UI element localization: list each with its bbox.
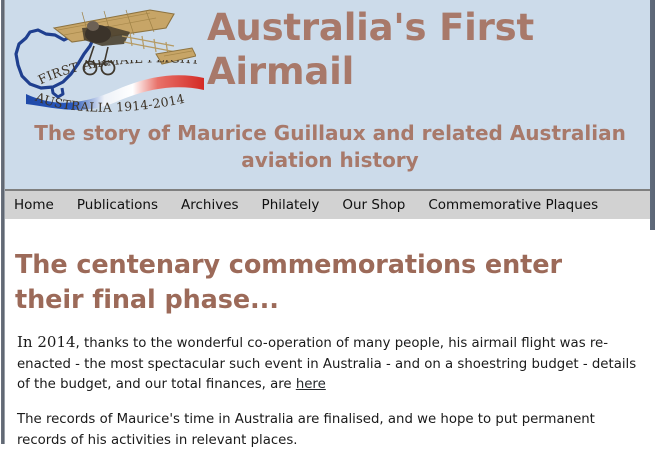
site-title-line-2: Airmail: [207, 50, 652, 94]
paragraph-lead-in: In 2014: [17, 333, 76, 351]
intro-paragraph: In 2014, thanks to the wonderful co-oper…: [17, 332, 647, 396]
records-paragraph: The records of Maurice's time in Austral…: [17, 410, 647, 451]
nav-item-commemorative-plaques[interactable]: Commemorative Plaques: [428, 197, 598, 213]
nav-item-philately[interactable]: Philately: [262, 197, 320, 213]
tricolour-ribbon-icon: [24, 64, 206, 110]
page-root: FIRST AIRMAIL FLIGHT AUSTRALIA 1914-2014…: [0, 0, 658, 444]
nav-item-our-shop[interactable]: Our Shop: [342, 197, 405, 213]
budget-details-link[interactable]: here: [296, 377, 326, 392]
site-title-line-1: Australia's First: [207, 6, 652, 50]
nav-items-container: Home Publications Archives Philately Our…: [4, 191, 654, 219]
nav-item-home[interactable]: Home: [14, 197, 54, 213]
site-subtitle: The story of Maurice Guillaux and relate…: [16, 120, 644, 174]
window-right-edge: [650, 0, 658, 230]
site-logo[interactable]: FIRST AIRMAIL FLIGHT AUSTRALIA 1914-2014: [6, 2, 206, 118]
nav-item-archives[interactable]: Archives: [181, 197, 239, 213]
page-title: The centenary commemorations enter their…: [15, 248, 635, 318]
main-content: The centenary commemorations enter their…: [4, 219, 658, 444]
site-header: FIRST AIRMAIL FLIGHT AUSTRALIA 1914-2014…: [4, 0, 654, 189]
site-title: Australia's First Airmail: [207, 6, 652, 94]
window-left-edge: [0, 0, 5, 444]
nav-item-publications[interactable]: Publications: [77, 197, 158, 213]
paragraph-body-text: , thanks to the wonderful co-operation o…: [17, 336, 636, 392]
main-navigation: Home Publications Archives Philately Our…: [4, 189, 654, 219]
